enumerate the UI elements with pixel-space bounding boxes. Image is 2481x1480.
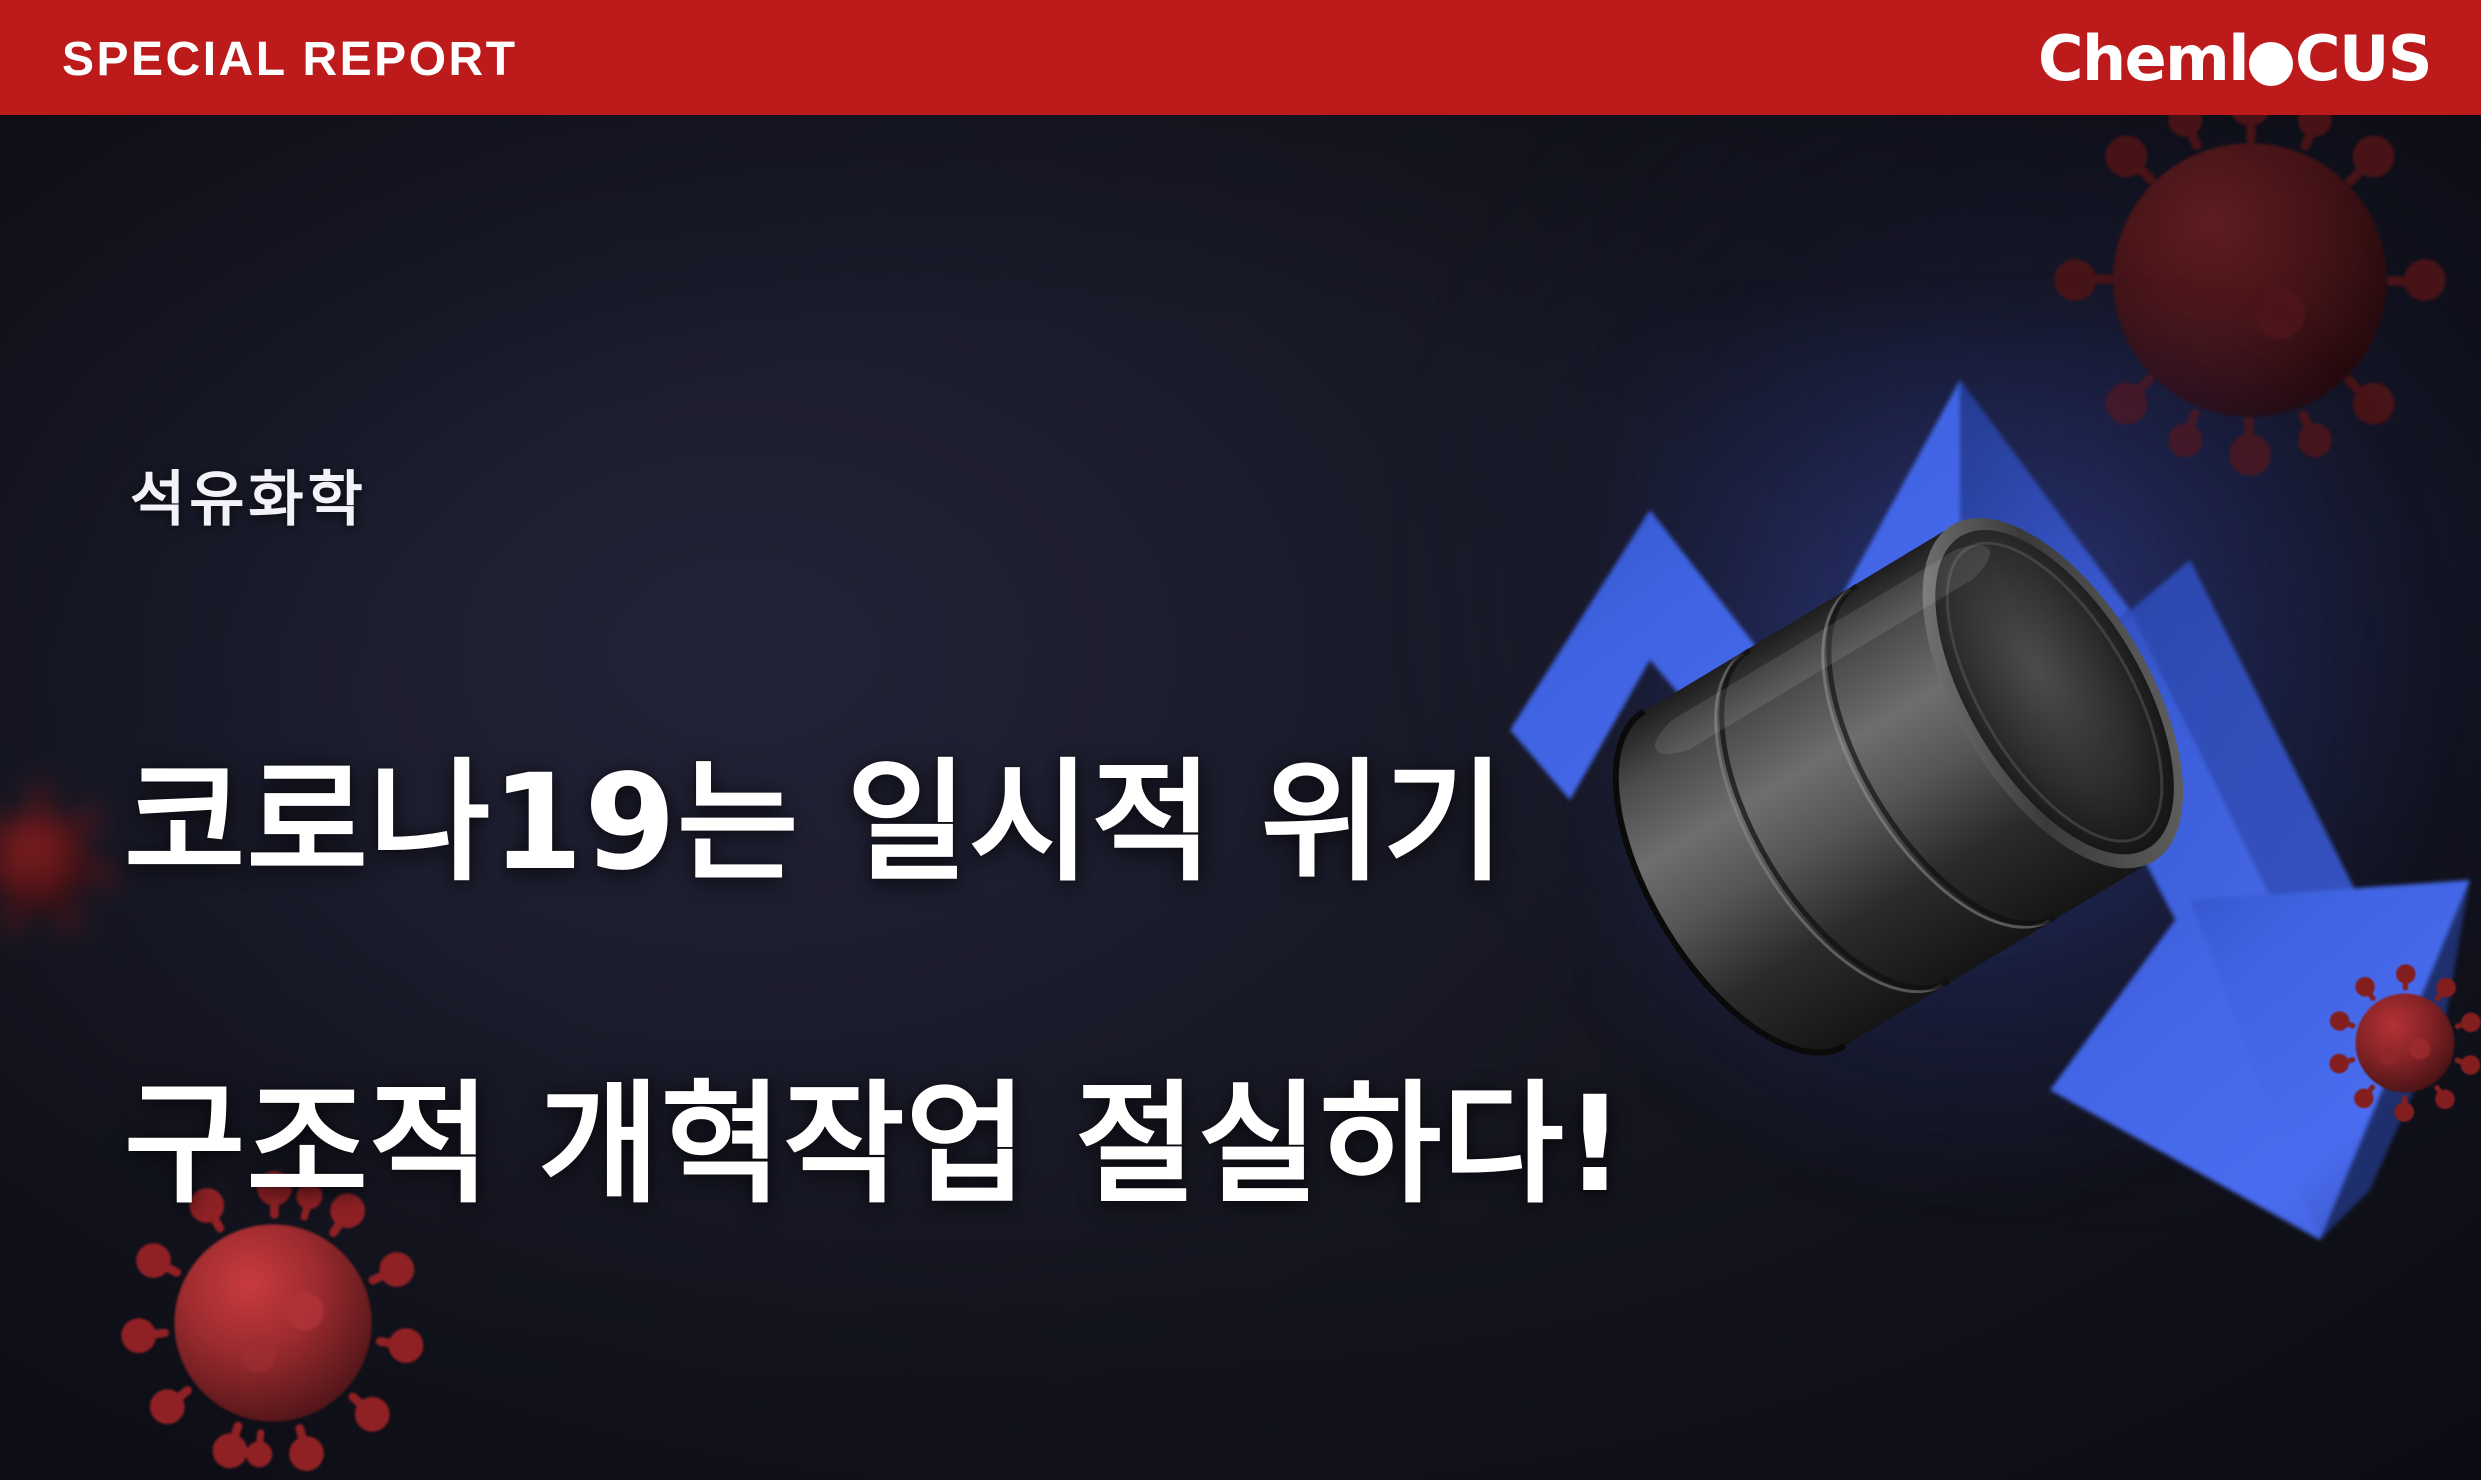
logo-text-part-2: CUS [2295,28,2431,90]
header-label: SPECIAL REPORT [62,36,518,84]
special-report-cover: 석유화학 코로나19는 일시적 위기 구조적 개혁작업 절실하다! SPECIA… [0,0,2481,1480]
cover-copy: 석유화학 코로나19는 일시적 위기 구조적 개혁작업 절실하다! [124,470,1824,1387]
chemlocus-logo[interactable]: Cheml CUS [2038,28,2431,90]
page-title: 코로나19는 일시적 위기 구조적 개혁작업 절실하다! [124,582,1824,1387]
coronavirus-particle-left-edge-icon [0,786,114,936]
coronavirus-particle-right-edge-icon [2330,968,2480,1118]
special-report-header: SPECIAL REPORT Cheml CUS [0,0,2481,115]
filled-circle-o-icon [2249,42,2293,86]
headline-line-2: 구조적 개혁작업 절실하다! [124,1065,1824,1226]
kicker-label: 석유화학 [130,470,1824,530]
headline-line-1: 코로나19는 일시적 위기 [124,743,1824,904]
logo-text-part-1: Cheml [2038,28,2248,90]
